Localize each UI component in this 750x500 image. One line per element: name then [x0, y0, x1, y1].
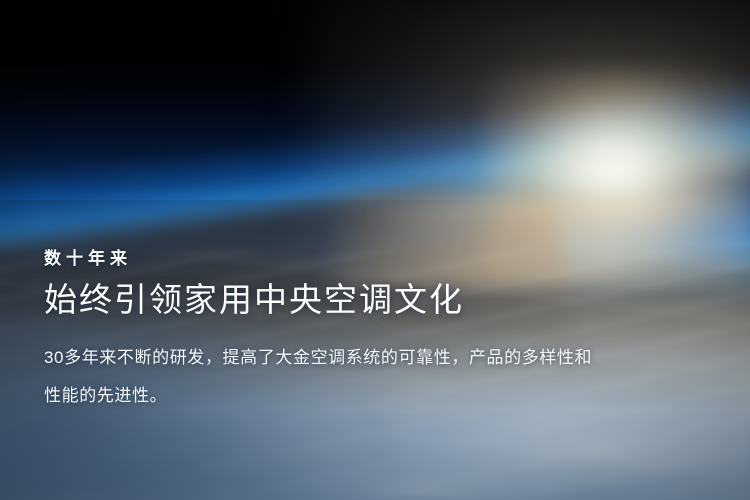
page-title: 始终引领家用中央空调文化: [44, 280, 644, 320]
eyebrow-text: 数十年来: [44, 248, 644, 271]
hero-copy-block: 数十年来 始终引领家用中央空调文化 30多年来不断的研发，提高了大金空调系统的可…: [44, 248, 644, 415]
body-paragraph: 30多年来不断的研发，提高了大金空调系统的可靠性，产品的多样性和性能的先进性。: [44, 339, 604, 415]
hero-banner: 数十年来 始终引领家用中央空调文化 30多年来不断的研发，提高了大金空调系统的可…: [0, 0, 750, 500]
